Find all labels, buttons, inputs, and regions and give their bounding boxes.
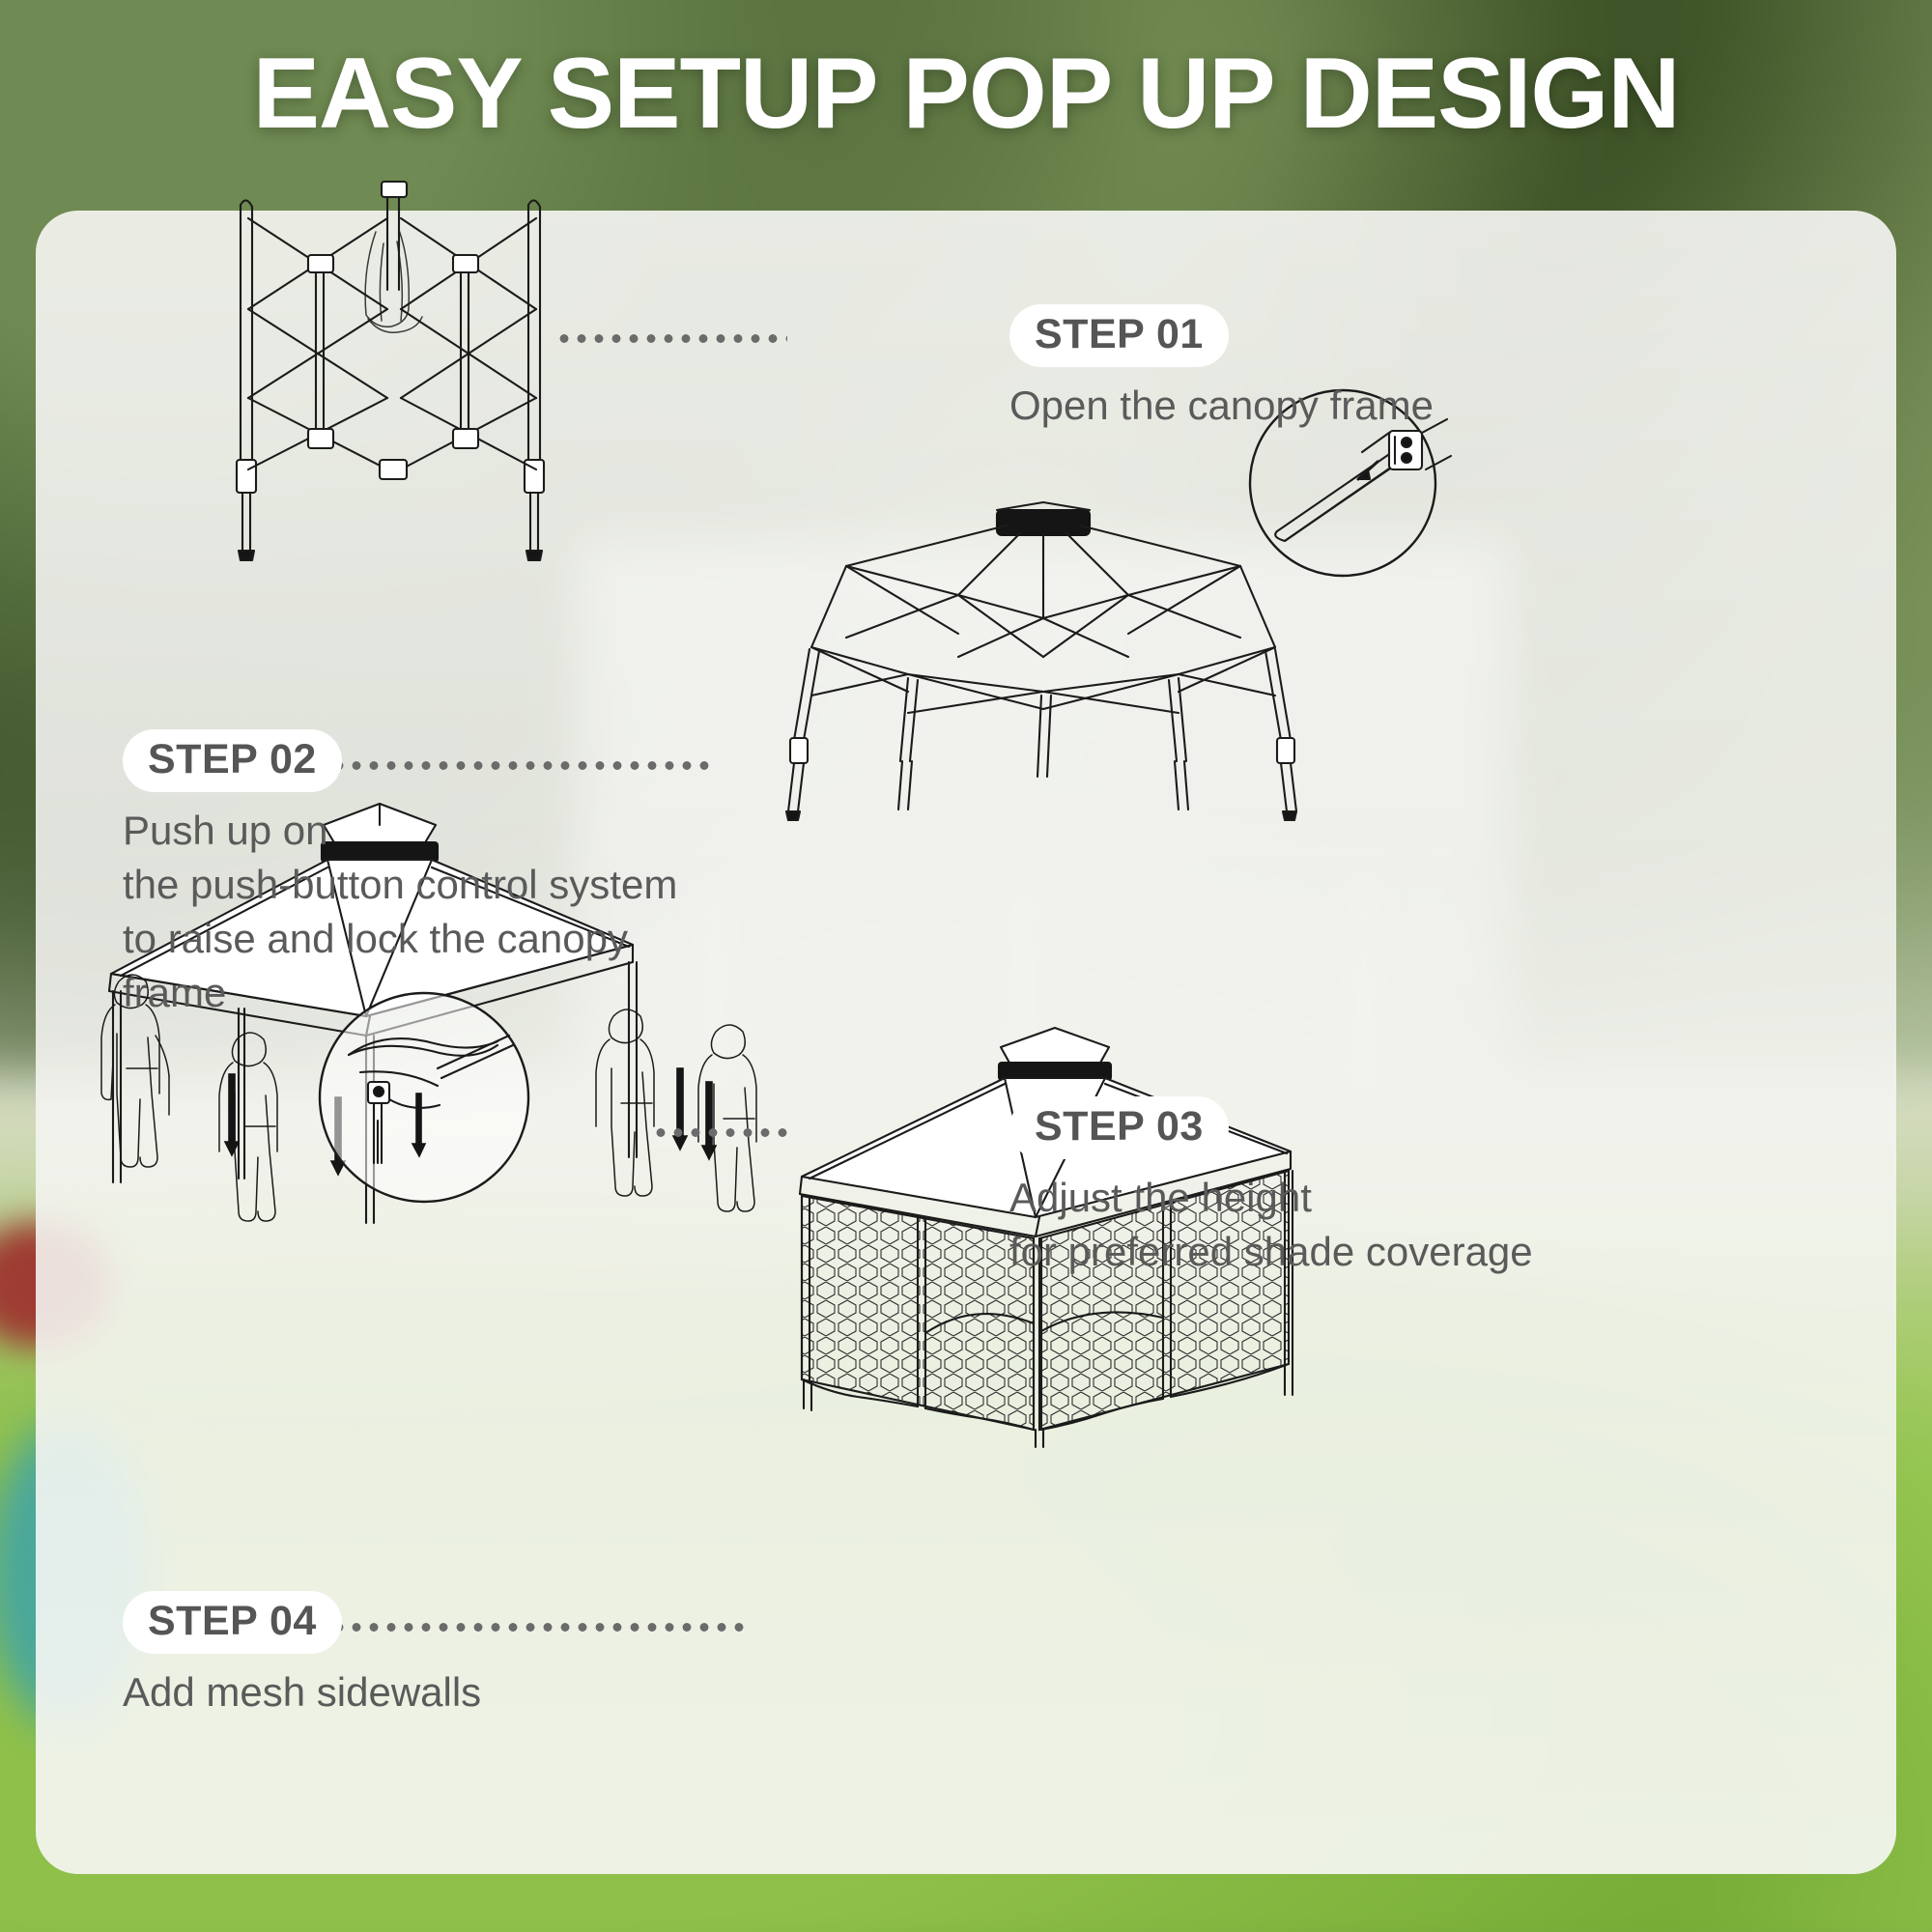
- step-description-01: Open the canopy frame: [1009, 379, 1434, 433]
- illustration-folded-frame: [198, 174, 604, 580]
- step-badge-02: STEP 02: [123, 729, 342, 792]
- step-badge-04: STEP 04: [123, 1591, 342, 1654]
- connector-dots-step-01: [555, 334, 787, 343]
- step-block-04: STEP 04 Add mesh sidewalls: [123, 1591, 481, 1719]
- step-description-04: Add mesh sidewalls: [123, 1665, 481, 1719]
- step-badge-03: STEP 03: [1009, 1096, 1229, 1159]
- step-block-02: STEP 02 Push up on the push-button contr…: [123, 729, 677, 1020]
- step-description-02: Push up on the push-button control syste…: [123, 804, 677, 1019]
- connector-dots-step-03: [652, 1128, 792, 1137]
- step-block-03: STEP 03 Adjust the height for preferred …: [1009, 1096, 1533, 1279]
- step-block-01: STEP 01 Open the canopy frame: [1009, 304, 1434, 433]
- step-description-03: Adjust the height for preferred shade co…: [1009, 1171, 1533, 1279]
- page-title: EASY SETUP POP UP DESIGN: [0, 41, 1932, 147]
- step-badge-01: STEP 01: [1009, 304, 1229, 367]
